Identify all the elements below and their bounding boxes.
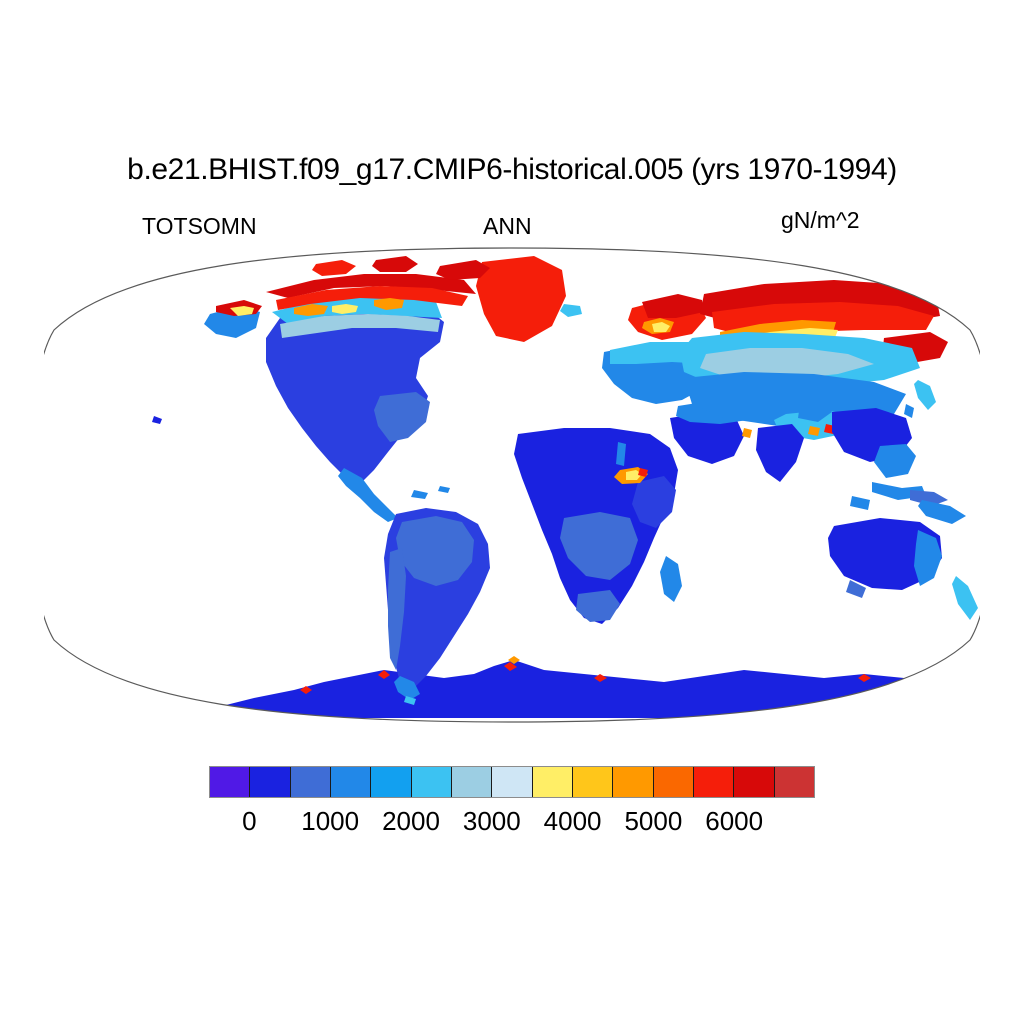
colorbar[interactable] bbox=[209, 766, 815, 798]
colorbar-cell-1[interactable] bbox=[250, 767, 290, 797]
colorbar-tick-labels: 0100020003000400050006000 bbox=[0, 806, 1024, 846]
colorbar-cell-3[interactable] bbox=[331, 767, 371, 797]
map-data-layer bbox=[44, 246, 980, 724]
variable-label: TOTSOMN bbox=[142, 213, 257, 239]
colorbar-cell-11[interactable] bbox=[654, 767, 694, 797]
colorbar-cell-0[interactable] bbox=[210, 767, 250, 797]
colorbar-tick-1000: 1000 bbox=[301, 806, 359, 836]
colorbar-cell-6[interactable] bbox=[452, 767, 492, 797]
figure-title: b.e21.BHIST.f09_g17.CMIP6-historical.005… bbox=[0, 152, 1024, 188]
colorbar-cell-2[interactable] bbox=[291, 767, 331, 797]
time-period-label: ANN bbox=[483, 213, 532, 239]
colorbar-tick-0: 0 bbox=[242, 806, 256, 836]
colorbar-tick-3000: 3000 bbox=[463, 806, 521, 836]
colorbar-cell-14[interactable] bbox=[775, 767, 814, 797]
colorbar-tick-4000: 4000 bbox=[544, 806, 602, 836]
colorbar-cell-12[interactable] bbox=[694, 767, 734, 797]
colorbar-tick-5000: 5000 bbox=[624, 806, 682, 836]
colorbar-cell-7[interactable] bbox=[492, 767, 532, 797]
colorbar-cell-9[interactable] bbox=[573, 767, 613, 797]
colorbar-tick-2000: 2000 bbox=[382, 806, 440, 836]
units-label: gN/m^2 bbox=[781, 207, 860, 233]
colorbar-cell-5[interactable] bbox=[412, 767, 452, 797]
climate-map-figure: b.e21.BHIST.f09_g17.CMIP6-historical.005… bbox=[0, 0, 1024, 1024]
colorbar-cell-10[interactable] bbox=[613, 767, 653, 797]
colorbar-strip[interactable] bbox=[209, 766, 815, 798]
colorbar-cell-8[interactable] bbox=[533, 767, 573, 797]
colorbar-tick-6000: 6000 bbox=[705, 806, 763, 836]
map-svg bbox=[44, 246, 980, 724]
colorbar-cell-4[interactable] bbox=[371, 767, 411, 797]
colorbar-cell-13[interactable] bbox=[734, 767, 774, 797]
world-map-panel bbox=[44, 246, 980, 724]
